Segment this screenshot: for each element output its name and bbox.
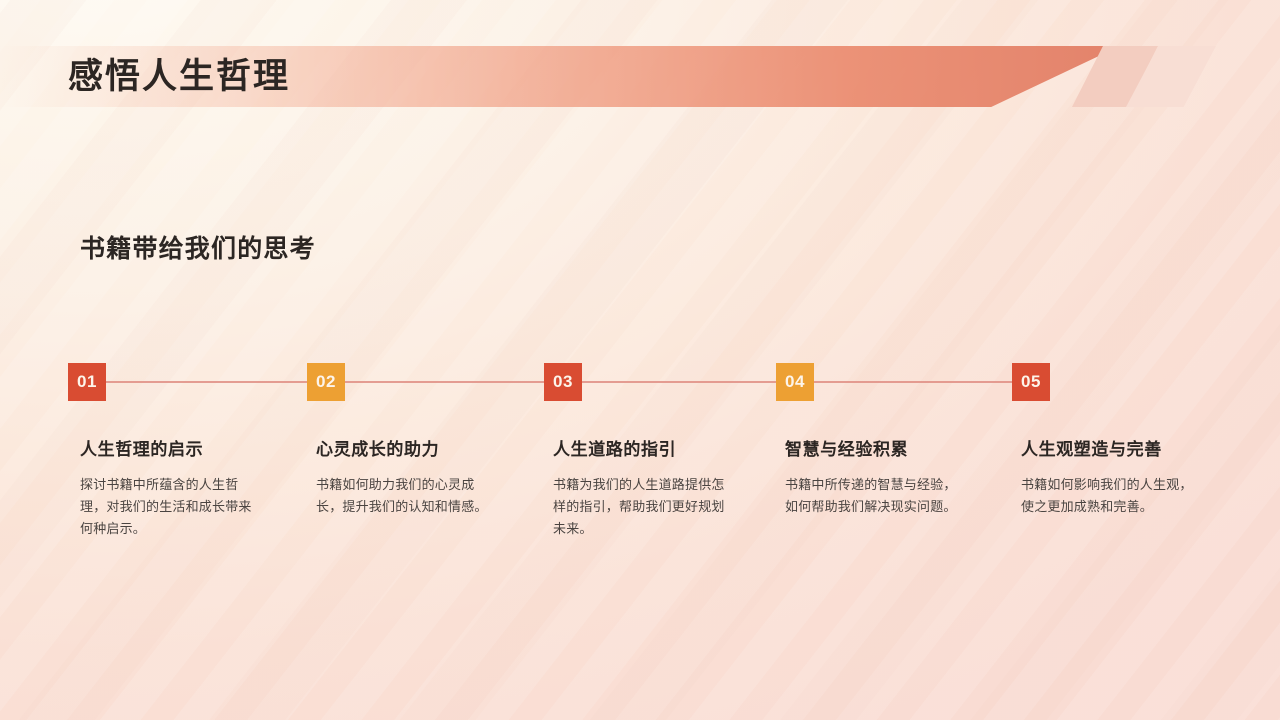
- column-title-1: 人生哲理的启示: [80, 438, 260, 462]
- column-body-1: 探讨书籍中所蕴含的人生哲理，对我们的生活和成长带来何种启示。: [80, 474, 260, 540]
- column-title-5: 人生观塑造与完善: [1021, 438, 1201, 462]
- column-title-3: 人生道路的指引: [553, 438, 733, 462]
- content-columns: 人生哲理的启示 探讨书籍中所蕴含的人生哲理，对我们的生活和成长带来何种启示。 心…: [0, 438, 1280, 578]
- timeline-badge-03[interactable]: 03: [544, 363, 582, 401]
- content-column-1: 人生哲理的启示 探讨书籍中所蕴含的人生哲理，对我们的生活和成长带来何种启示。: [80, 438, 260, 540]
- column-body-5: 书籍如何影响我们的人生观，使之更加成熟和完善。: [1021, 474, 1201, 518]
- column-body-4: 书籍中所传递的智慧与经验，如何帮助我们解决现实问题。: [785, 474, 965, 518]
- column-body-3: 书籍为我们的人生道路提供怎样的指引，帮助我们更好规划未来。: [553, 474, 733, 540]
- content-column-3: 人生道路的指引 书籍为我们的人生道路提供怎样的指引，帮助我们更好规划未来。: [553, 438, 733, 540]
- section-heading: 书籍带给我们的思考: [80, 229, 316, 265]
- timeline-badge-05[interactable]: 05: [1012, 363, 1050, 401]
- timeline-badge-02[interactable]: 02: [307, 363, 345, 401]
- timeline: 01 02 03 04 05: [68, 363, 1050, 401]
- content-column-5: 人生观塑造与完善 书籍如何影响我们的人生观，使之更加成熟和完善。: [1021, 438, 1201, 518]
- slide-canvas: 感悟人生哲理 书籍带给我们的思考 01 02 03 04 05 人生哲理的启示 …: [0, 0, 1280, 720]
- column-title-4: 智慧与经验积累: [785, 438, 965, 462]
- content-column-4: 智慧与经验积累 书籍中所传递的智慧与经验，如何帮助我们解决现实问题。: [785, 438, 965, 518]
- content-column-2: 心灵成长的助力 书籍如何助力我们的心灵成长，提升我们的认知和情感。: [316, 438, 496, 518]
- slide-title: 感悟人生哲理: [68, 50, 290, 104]
- timeline-badge-01[interactable]: 01: [68, 363, 106, 401]
- timeline-badge-04[interactable]: 04: [776, 363, 814, 401]
- column-body-2: 书籍如何助力我们的心灵成长，提升我们的认知和情感。: [316, 474, 496, 518]
- column-title-2: 心灵成长的助力: [316, 438, 496, 462]
